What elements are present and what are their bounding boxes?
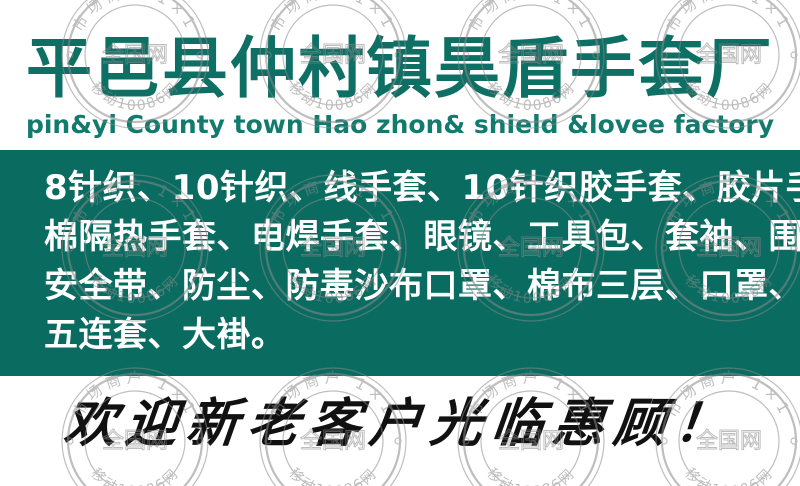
advertisement-poster: 平邑县仲村镇昊盾手套厂 pin&yi County town Hao zhon&… (0, 0, 800, 486)
company-name-chinese: 平邑县仲村镇昊盾手套厂 (0, 34, 800, 104)
product-list-line: 棉隔热手套、电焊手套、眼镜、工具包、套袖、围裙、 (44, 213, 774, 262)
product-list-line: 安全带、防尘、防毒沙布口罩、棉布三层、口罩、 (44, 262, 774, 311)
company-name-english: pin&yi County town Hao zhon& shield &lov… (0, 110, 800, 140)
product-list-line: 五连套、大褂。 (44, 311, 774, 360)
poster-footer: 欢迎新老客户光临惠顾！ (0, 376, 800, 486)
poster-header: 平邑县仲村镇昊盾手套厂 pin&yi County town Hao zhon&… (0, 0, 800, 150)
product-list: 8针织、10针织、线手套、10针织胶手套、胶片手套、 棉隔热手套、电焊手套、眼镜… (44, 164, 774, 360)
product-list-band: 8针织、10针织、线手套、10针织胶手套、胶片手套、 棉隔热手套、电焊手套、眼镜… (0, 150, 800, 376)
product-list-line: 8针织、10针织、线手套、10针织胶手套、胶片手套、 (44, 164, 774, 213)
welcome-slogan: 欢迎新老客户光临惠顾！ (0, 394, 800, 454)
